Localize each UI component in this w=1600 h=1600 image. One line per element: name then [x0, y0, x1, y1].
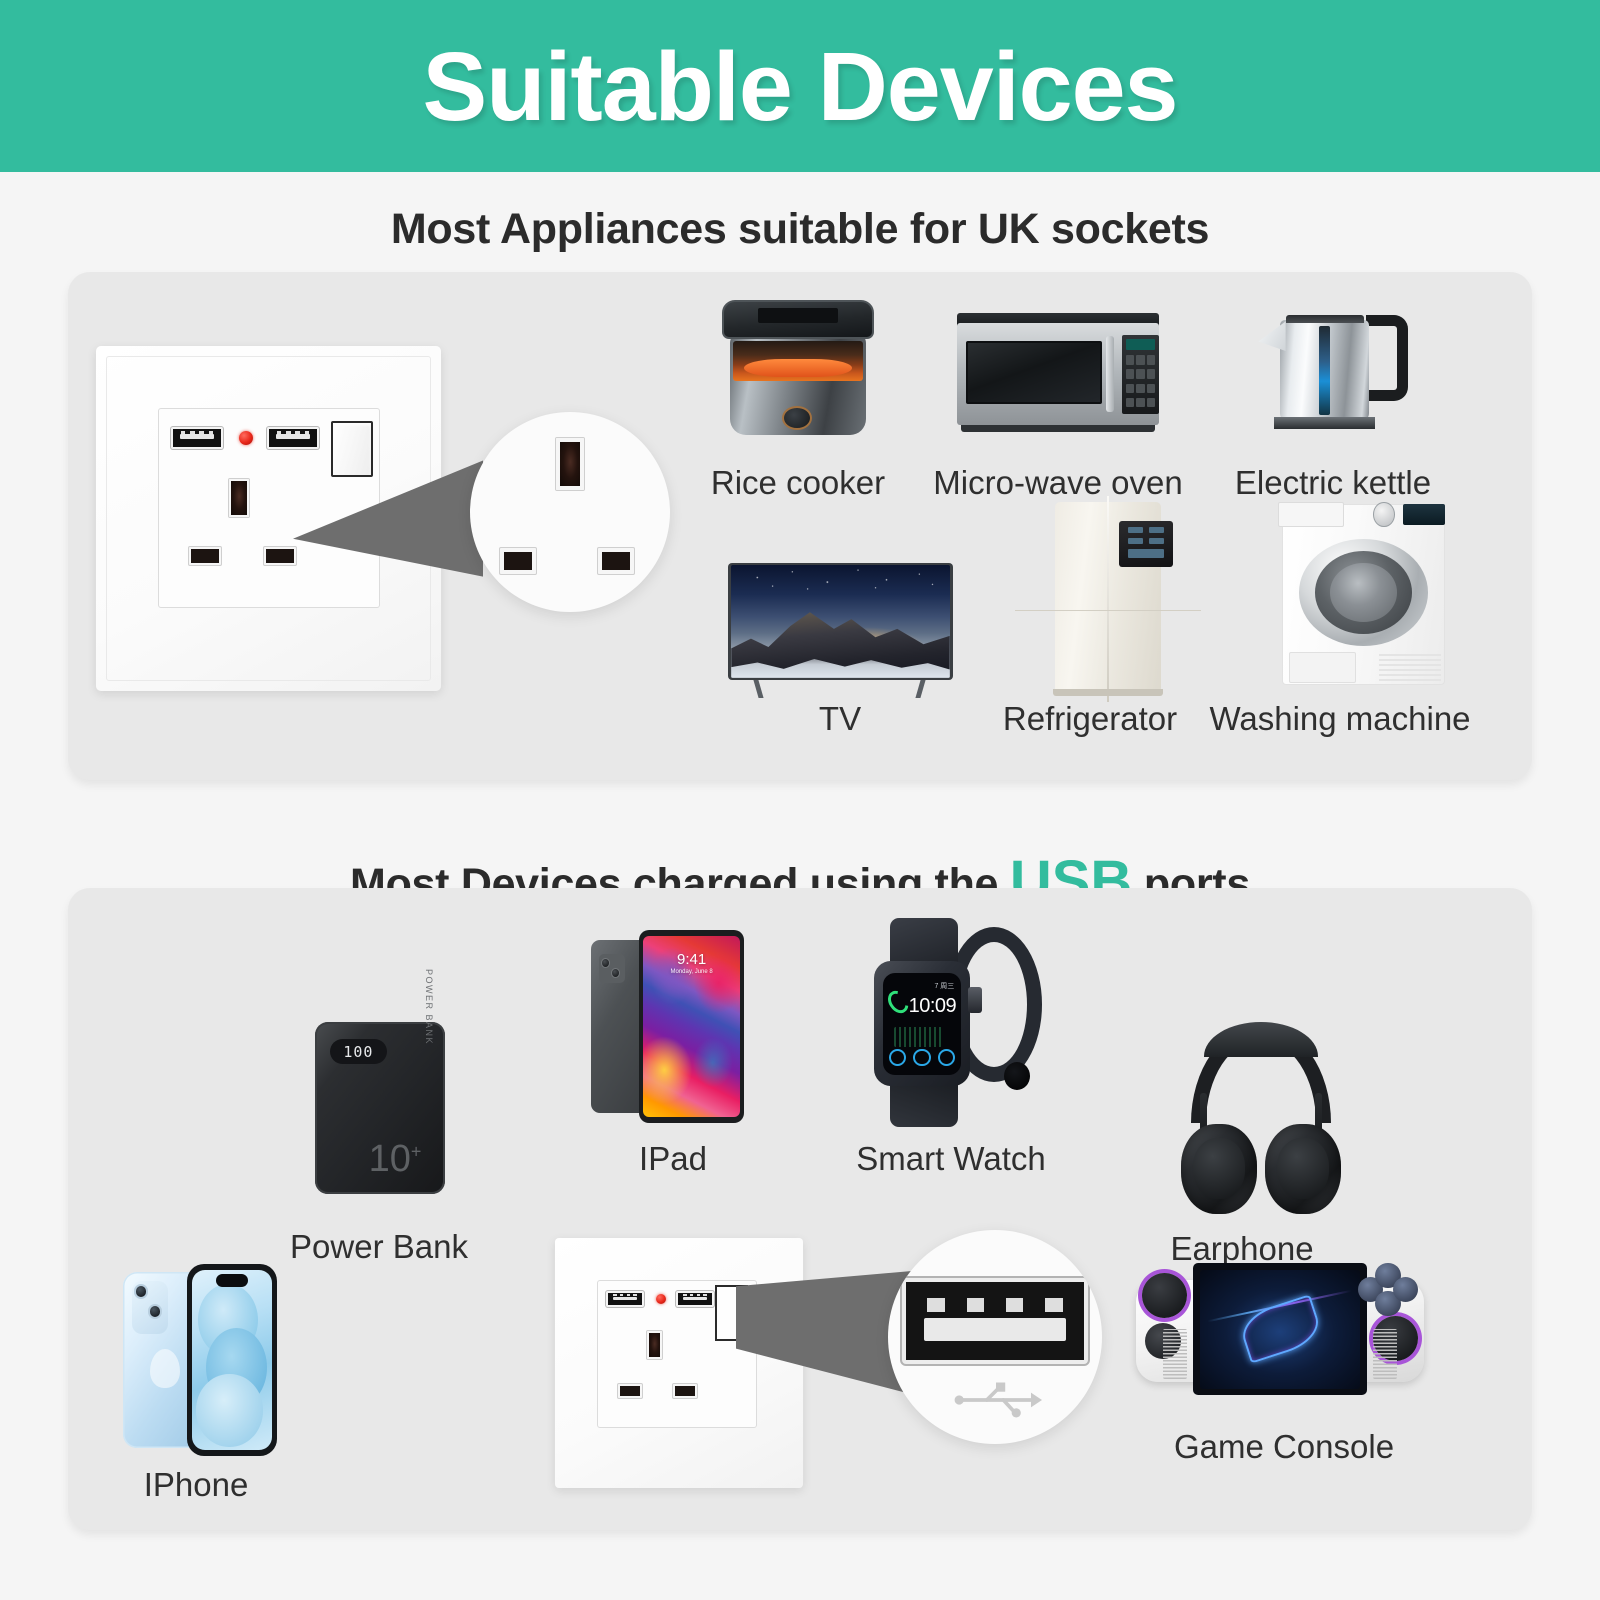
smart-watch-label: Smart Watch	[856, 1140, 1045, 1178]
ipad-screen-time: 9:41 Monday, June 8	[639, 951, 745, 975]
live-pin-slot	[189, 547, 221, 565]
uk-socket-plate-usb	[555, 1238, 803, 1488]
iphone-dynamic-island	[216, 1274, 248, 1287]
earth-pin-slot	[229, 479, 249, 517]
smart-watch-time: 10:09	[909, 995, 957, 1018]
socket-face	[158, 408, 380, 608]
refrigerator-icon	[1013, 494, 1203, 704]
iphone-label: IPhone	[144, 1466, 249, 1504]
live-pin-slot-2	[618, 1384, 642, 1398]
usb-trident-symbol	[950, 1380, 1042, 1420]
magnified-usb-a-port	[902, 1278, 1088, 1364]
refrigerator-label: Refrigerator	[1003, 700, 1177, 738]
power-led-indicator-2	[656, 1294, 666, 1304]
rice-cooker-icon	[708, 290, 888, 455]
iphone-front	[187, 1264, 277, 1456]
socket-magnifier-circle	[470, 412, 670, 612]
power-bank-label: Power Bank	[290, 1228, 468, 1266]
game-console-label: Game Console	[1174, 1428, 1394, 1466]
usb-port-left-2	[606, 1291, 644, 1307]
game-console-icon	[1130, 1250, 1430, 1415]
magnified-live-pin-slot	[500, 548, 536, 574]
appliances-section-heading: Most Appliances suitable for UK sockets	[0, 205, 1600, 254]
television-icon	[723, 554, 958, 704]
usb-port-right-2	[676, 1291, 714, 1307]
usb-port-magnifier-circle	[888, 1230, 1102, 1444]
magnified-earth-pin-slot	[556, 438, 584, 490]
power-bank-brand-text: POWER BANK	[424, 969, 434, 1045]
ipad-icon: 9:41 Monday, June 8	[586, 924, 751, 1129]
iphone-icon	[120, 1260, 280, 1460]
usb-port-left	[171, 427, 223, 449]
washing-machine-label: Washing machine	[1209, 700, 1470, 738]
page-header: Suitable Devices	[0, 0, 1600, 172]
headphones-icon	[1166, 1016, 1356, 1231]
socket-rocker-switch[interactable]	[331, 421, 373, 477]
appliances-panel: Rice cooker Micro-wave oven Electric ket…	[68, 272, 1532, 780]
page-title: Suitable Devices	[423, 38, 1178, 135]
power-bank-capacity: 10+	[369, 1138, 422, 1181]
usb-port-right	[267, 427, 319, 449]
smart-watch-icon: 7 周三 10:09	[858, 914, 1058, 1129]
electric-kettle-icon	[1233, 290, 1428, 455]
television-label: TV	[819, 700, 861, 738]
power-bank-display-value: 100	[343, 1043, 373, 1061]
earth-pin-slot-2	[647, 1331, 662, 1359]
ipad-label: IPad	[639, 1140, 707, 1178]
neutral-pin-slot	[264, 547, 296, 565]
power-bank-icon: 100 POWER BANK 10+	[290, 1000, 470, 1215]
rice-cooker-label: Rice cooker	[711, 464, 885, 502]
power-led-indicator	[239, 431, 253, 445]
socket-face-2	[597, 1280, 757, 1428]
neutral-pin-slot-2	[673, 1384, 697, 1398]
smart-watch-date: 7 周三	[934, 981, 954, 991]
magnified-neutral-pin-slot	[598, 548, 634, 574]
microwave-oven-icon	[948, 290, 1168, 455]
power-bank-display: 100	[330, 1039, 388, 1065]
washing-machine-icon	[1266, 494, 1461, 699]
usb-devices-panel: 100 POWER BANK 10+ Power Bank 9:41 Monda…	[68, 888, 1532, 1530]
